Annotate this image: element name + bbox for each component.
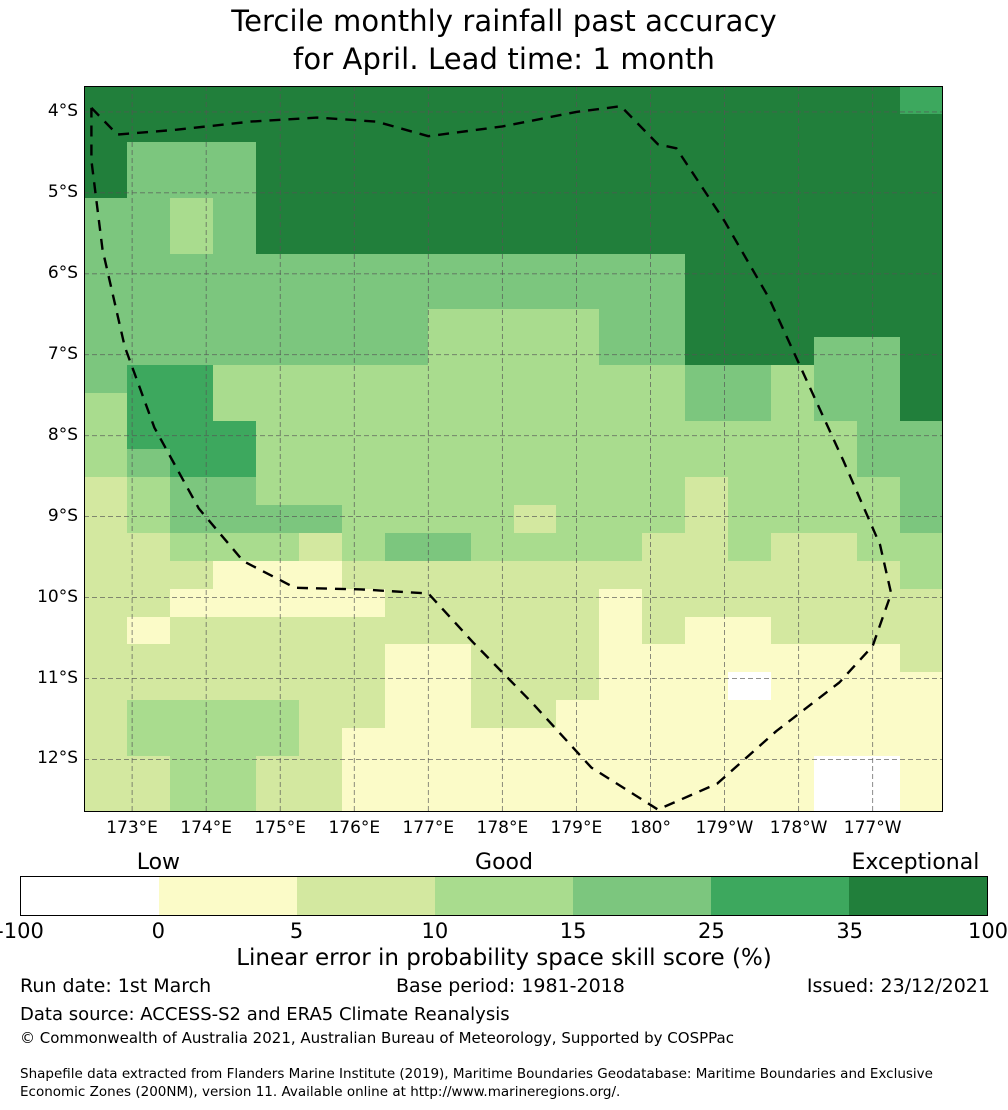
heatmap-cell	[385, 505, 429, 534]
heatmap-cell	[599, 756, 643, 785]
heatmap-cell	[685, 477, 729, 506]
heatmap-cell	[900, 365, 943, 394]
heatmap-cell	[900, 561, 943, 590]
heatmap-cell	[771, 421, 815, 450]
heatmap-cell	[471, 672, 515, 701]
colorbar-tick-label: 5	[237, 919, 357, 943]
heatmap-cell	[213, 589, 257, 618]
heatmap-cell	[556, 700, 600, 729]
heatmap-cell	[685, 700, 729, 729]
heatmap-cell	[170, 728, 214, 757]
heatmap-cell	[599, 784, 643, 812]
heatmap-cell	[471, 449, 515, 478]
heatmap-cell	[342, 700, 386, 729]
colorbar-segment[interactable]	[435, 877, 573, 915]
heatmap-cell	[471, 784, 515, 812]
heatmap-cell	[514, 114, 558, 143]
heatmap-cell	[299, 421, 343, 450]
heatmap-cell	[814, 449, 858, 478]
heatmap-cell	[428, 477, 472, 506]
colorbar-segment[interactable]	[573, 877, 711, 915]
heatmap-cell	[170, 533, 214, 562]
heatmap-cell	[642, 505, 686, 534]
heatmap-cell	[213, 561, 257, 590]
heatmap-cell	[685, 309, 729, 338]
heatmap-cell	[342, 449, 386, 478]
heatmap-cell	[728, 281, 772, 310]
heatmap-cell	[514, 365, 558, 394]
heatmap-cell	[256, 449, 300, 478]
heatmap-cell	[170, 142, 214, 171]
heatmap-cell	[857, 533, 901, 562]
heatmap-cell	[428, 533, 472, 562]
heatmap-cell	[256, 561, 300, 590]
heatmap-cell	[127, 728, 171, 757]
heatmap-cell	[213, 672, 257, 701]
heatmap-cell	[728, 114, 772, 143]
heatmap-cell	[556, 728, 600, 757]
heatmap-cell	[299, 505, 343, 534]
heatmap-cell	[428, 142, 472, 171]
heatmap-cell	[385, 784, 429, 812]
heatmap-cell	[84, 589, 128, 618]
heatmap-cell	[514, 784, 558, 812]
heatmap-cell	[127, 142, 171, 171]
heatmap-cell	[471, 644, 515, 673]
heatmap-cell	[642, 393, 686, 422]
heatmap-cell	[256, 700, 300, 729]
heatmap-cell	[728, 756, 772, 785]
heatmap-cell	[814, 421, 858, 450]
heatmap-cell	[685, 198, 729, 227]
heatmap-cell	[127, 672, 171, 701]
heatmap-cell	[256, 421, 300, 450]
heatmap-cell	[771, 170, 815, 199]
heatmap-cell	[771, 309, 815, 338]
heatmap-cell	[471, 309, 515, 338]
heatmap-cell	[556, 142, 600, 171]
heatmap-cell	[170, 226, 214, 255]
heatmap-cell	[385, 756, 429, 785]
heatmap-cell	[127, 533, 171, 562]
colorbar-category-label: Good	[384, 851, 624, 875]
heatmap-cell	[642, 700, 686, 729]
heatmap-cell	[299, 281, 343, 310]
y-axis-tick-label: 8°S	[0, 427, 78, 444]
heatmap-cell	[599, 644, 643, 673]
heatmap-cell	[814, 644, 858, 673]
heatmap-cell	[170, 784, 214, 812]
heatmap-cell	[771, 756, 815, 785]
heatmap-cell	[170, 309, 214, 338]
heatmap-cell	[342, 589, 386, 618]
heatmap-cell	[642, 281, 686, 310]
heatmap-cell	[814, 281, 858, 310]
heatmap-cell	[900, 617, 943, 646]
heatmap-cell	[299, 617, 343, 646]
heatmap-cell	[514, 589, 558, 618]
heatmap-cell	[599, 309, 643, 338]
heatmap-cell	[857, 700, 901, 729]
heatmap-cell	[127, 784, 171, 812]
heatmap-cell	[685, 505, 729, 534]
heatmap-cell	[428, 672, 472, 701]
heatmap-cell	[685, 226, 729, 255]
heatmap-cell	[342, 170, 386, 199]
heatmap-cell	[256, 309, 300, 338]
colorbar-tick-label: 100	[928, 919, 1008, 943]
heatmap-cell	[127, 309, 171, 338]
heatmap-cell	[299, 393, 343, 422]
heatmap-cell	[514, 672, 558, 701]
heatmap-cell	[599, 421, 643, 450]
heatmap-cell	[814, 365, 858, 394]
heatmap-cell	[84, 505, 128, 534]
heatmap-cell	[299, 784, 343, 812]
heatmap-cell	[299, 449, 343, 478]
heatmap-cell	[428, 589, 472, 618]
heatmap-cell	[642, 589, 686, 618]
heatmap-cell	[814, 589, 858, 618]
heatmap-cell	[514, 421, 558, 450]
heatmap-cell	[771, 477, 815, 506]
heatmap-cell	[256, 589, 300, 618]
heatmap-cell	[170, 561, 214, 590]
heatmap-cell	[213, 505, 257, 534]
heatmap-cell	[642, 142, 686, 171]
heatmap-cell	[685, 142, 729, 171]
heatmap-cell	[428, 198, 472, 227]
heatmap-cell	[428, 86, 472, 115]
heatmap-cell	[471, 728, 515, 757]
heatmap-cell	[127, 644, 171, 673]
heatmap-cell	[900, 700, 943, 729]
heatmap-cell	[685, 644, 729, 673]
heatmap-cell	[127, 449, 171, 478]
heatmap-cell	[84, 393, 128, 422]
heatmap-plot-area[interactable]	[84, 86, 943, 812]
heatmap-cell	[256, 505, 300, 534]
copyright-text: © Commonwealth of Australia 2021, Austra…	[20, 1028, 1008, 1049]
heatmap-cell	[127, 365, 171, 394]
heatmap-cell	[771, 533, 815, 562]
heatmap-cell	[471, 281, 515, 310]
heatmap-cell	[256, 114, 300, 143]
heatmap-cell	[299, 477, 343, 506]
heatmap-cell	[728, 561, 772, 590]
heatmap-cell	[428, 309, 472, 338]
colorbar-segment[interactable]	[297, 877, 435, 915]
heatmap-cell	[471, 533, 515, 562]
heatmap-cell	[814, 142, 858, 171]
heatmap-cell	[299, 728, 343, 757]
heatmap-cell	[127, 226, 171, 255]
heatmap-cell	[857, 477, 901, 506]
heatmap-cell	[342, 756, 386, 785]
colorbar-category-label: Exceptional	[795, 851, 1008, 875]
heatmap-cell	[342, 226, 386, 255]
heatmap-cell	[556, 114, 600, 143]
heatmap-cell	[471, 142, 515, 171]
heatmap-cell	[84, 617, 128, 646]
heatmap-cell	[556, 170, 600, 199]
heatmap-cell	[728, 533, 772, 562]
heatmap-cell	[728, 421, 772, 450]
heatmap-cell	[299, 198, 343, 227]
heatmap-cell	[471, 505, 515, 534]
heatmap-cell	[900, 337, 943, 366]
heatmap-cell	[170, 170, 214, 199]
heatmap-cell	[342, 421, 386, 450]
heatmap-cell	[814, 561, 858, 590]
heatmap-cell	[471, 589, 515, 618]
heatmap-cell	[857, 421, 901, 450]
heatmap-cell	[771, 505, 815, 534]
heatmap-cell	[814, 114, 858, 143]
heatmap-cell	[728, 505, 772, 534]
heatmap-cell	[599, 589, 643, 618]
heatmap-cell	[814, 226, 858, 255]
heatmap-cell	[771, 365, 815, 394]
heatmap-cell	[728, 309, 772, 338]
y-axis-tick-label: 11°S	[0, 670, 78, 687]
heatmap-cell	[84, 756, 128, 785]
heatmap-cell	[170, 365, 214, 394]
heatmap-cell	[814, 337, 858, 366]
heatmap-cell	[299, 644, 343, 673]
heatmap-cell	[471, 170, 515, 199]
heatmap-cell	[170, 114, 214, 143]
heatmap-cell	[471, 477, 515, 506]
heatmap-cell	[213, 281, 257, 310]
colorbar-tick-label: 25	[651, 919, 771, 943]
heatmap-cell	[728, 644, 772, 673]
heatmap-cell	[213, 700, 257, 729]
heatmap-cell	[599, 617, 643, 646]
heatmap-cell	[342, 728, 386, 757]
heatmap-cell	[599, 170, 643, 199]
heatmap-cell	[685, 533, 729, 562]
heatmap-cell	[642, 421, 686, 450]
heatmap-cell	[685, 589, 729, 618]
heatmap-cell	[385, 728, 429, 757]
heatmap-cell	[900, 505, 943, 534]
heatmap-cell	[385, 533, 429, 562]
heatmap-cell	[299, 86, 343, 115]
heatmap-cell	[84, 86, 128, 115]
heatmap-cell	[599, 337, 643, 366]
heatmap-cell	[814, 477, 858, 506]
heatmap-cell	[685, 393, 729, 422]
heatmap-cells	[84, 86, 943, 812]
colorbar-gradient[interactable]	[20, 876, 988, 916]
heatmap-cell	[256, 365, 300, 394]
heatmap-cell	[771, 142, 815, 171]
heatmap-cell	[299, 672, 343, 701]
heatmap-cell	[514, 728, 558, 757]
heatmap-cell	[170, 505, 214, 534]
heatmap-cell	[814, 86, 858, 115]
heatmap-cell	[857, 281, 901, 310]
heatmap-cell	[642, 784, 686, 812]
heatmap-cell	[213, 393, 257, 422]
heatmap-cell	[857, 672, 901, 701]
heatmap-cell	[428, 784, 472, 812]
heatmap-cell	[642, 170, 686, 199]
colorbar-segment[interactable]	[849, 877, 987, 915]
heatmap-cell	[342, 309, 386, 338]
heatmap-cell	[857, 589, 901, 618]
heatmap-cell	[514, 393, 558, 422]
heatmap-cell	[514, 561, 558, 590]
heatmap-cell	[771, 728, 815, 757]
heatmap-cell	[385, 365, 429, 394]
heatmap-cell	[127, 700, 171, 729]
heatmap-cell	[385, 170, 429, 199]
heatmap-cell	[170, 449, 214, 478]
heatmap-cell	[728, 86, 772, 115]
issued-date-text: Issued: 23/12/2021	[807, 975, 990, 997]
heatmap-cell	[642, 617, 686, 646]
heatmap-cell	[127, 198, 171, 227]
heatmap-cell	[514, 281, 558, 310]
heatmap-cell	[256, 477, 300, 506]
heatmap-cell	[814, 784, 858, 812]
heatmap-cell	[342, 561, 386, 590]
heatmap-cell	[514, 142, 558, 171]
heatmap-cell	[342, 393, 386, 422]
heatmap-cell	[428, 393, 472, 422]
heatmap-cell	[556, 281, 600, 310]
heatmap-cell	[385, 198, 429, 227]
heatmap-cell	[685, 337, 729, 366]
heatmap-cell	[213, 365, 257, 394]
y-axis-tick-label: 10°S	[0, 589, 78, 606]
heatmap-cell	[771, 561, 815, 590]
heatmap-cell	[556, 505, 600, 534]
colorbar-tick-label: -100	[0, 919, 80, 943]
colorbar[interactable]	[20, 876, 988, 916]
heatmap-cell	[599, 477, 643, 506]
heatmap-cell	[127, 477, 171, 506]
heatmap-cell	[771, 449, 815, 478]
heatmap-cell	[385, 672, 429, 701]
heatmap-cell	[342, 784, 386, 812]
heatmap-cell	[213, 170, 257, 199]
heatmap-cell	[728, 784, 772, 812]
heatmap-cell	[771, 86, 815, 115]
heatmap-cell	[556, 337, 600, 366]
heatmap-cell	[857, 644, 901, 673]
heatmap-cell	[814, 198, 858, 227]
heatmap-cell	[771, 281, 815, 310]
heatmap-cell	[900, 421, 943, 450]
heatmap-cell	[385, 86, 429, 115]
heatmap-cell	[771, 393, 815, 422]
heatmap-cell	[342, 617, 386, 646]
heatmap-cell	[299, 700, 343, 729]
heatmap-cell	[170, 281, 214, 310]
heatmap-cell	[514, 226, 558, 255]
heatmap-cell	[428, 114, 472, 143]
colorbar-category-label: Low	[38, 851, 278, 875]
heatmap-cell	[127, 281, 171, 310]
heatmap-cell	[84, 309, 128, 338]
heatmap-cell	[599, 505, 643, 534]
footer: Run date: 1st March Base period: 1981-20…	[0, 975, 1008, 1101]
heatmap-cell	[857, 561, 901, 590]
heatmap-cell	[556, 477, 600, 506]
heatmap-cell	[900, 393, 943, 422]
heatmap-cell	[814, 672, 858, 701]
heatmap-cell	[642, 337, 686, 366]
heatmap-cell	[342, 142, 386, 171]
heatmap-cell	[642, 561, 686, 590]
heatmap-cell	[857, 365, 901, 394]
heatmap-cell	[556, 86, 600, 115]
heatmap-cell	[771, 226, 815, 255]
heatmap-cell	[213, 644, 257, 673]
heatmap-cell	[685, 281, 729, 310]
heatmap-cell	[84, 784, 128, 812]
heatmap-cell	[642, 254, 686, 283]
shapefile-attribution-text: Shapefile data extracted from Flanders M…	[20, 1065, 998, 1101]
heatmap-cell	[428, 226, 472, 255]
heatmap-cell	[84, 477, 128, 506]
heatmap-cell	[814, 170, 858, 199]
heatmap-cell	[771, 198, 815, 227]
heatmap-cell	[256, 756, 300, 785]
heatmap-cell	[342, 254, 386, 283]
heatmap-cell	[556, 421, 600, 450]
heatmap-cell	[685, 170, 729, 199]
heatmap-cell	[385, 114, 429, 143]
heatmap-cell	[900, 449, 943, 478]
heatmap-cell	[814, 533, 858, 562]
heatmap-cell	[728, 700, 772, 729]
heatmap-cell	[857, 784, 901, 812]
page-title: Tercile monthly rainfall past accuracy f…	[0, 2, 1008, 78]
heatmap-cell	[213, 337, 257, 366]
heatmap-cell	[514, 449, 558, 478]
heatmap-cell	[385, 449, 429, 478]
heatmap-cell	[599, 365, 643, 394]
heatmap-cell	[342, 672, 386, 701]
heatmap-cell	[471, 756, 515, 785]
heatmap-cell	[256, 142, 300, 171]
heatmap-cell	[514, 86, 558, 115]
heatmap-cell	[256, 170, 300, 199]
heatmap-cell	[771, 617, 815, 646]
heatmap-cell	[170, 756, 214, 785]
heatmap-cell	[814, 254, 858, 283]
heatmap-cell	[814, 309, 858, 338]
heatmap-cell	[728, 226, 772, 255]
base-period-text: Base period: 1981-2018	[396, 975, 625, 997]
heatmap-cell	[900, 281, 943, 310]
heatmap-cell	[685, 784, 729, 812]
heatmap-cell	[900, 756, 943, 785]
run-date-text: Run date: 1st March	[20, 975, 211, 997]
heatmap-cell	[256, 337, 300, 366]
y-axis-tick-label: 5°S	[0, 184, 78, 201]
colorbar-segment[interactable]	[711, 877, 849, 915]
colorbar-segment[interactable]	[159, 877, 297, 915]
colorbar-segment[interactable]	[21, 877, 159, 915]
heatmap-cell	[471, 617, 515, 646]
heatmap-cell	[857, 86, 901, 115]
heatmap-cell	[514, 644, 558, 673]
